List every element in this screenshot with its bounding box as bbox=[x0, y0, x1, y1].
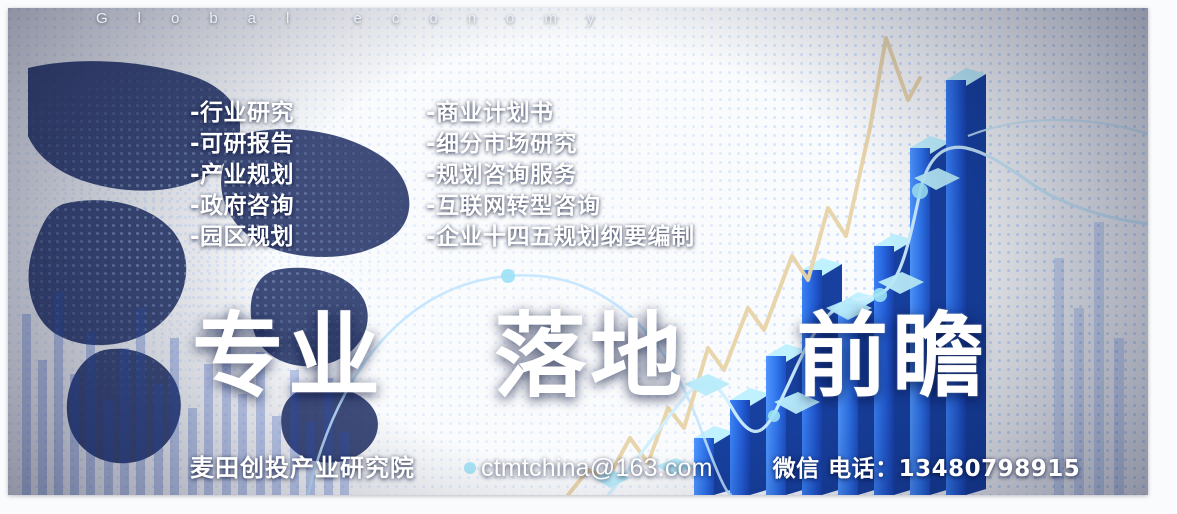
service-item: -商业计划书 bbox=[426, 98, 695, 129]
service-list-left: -行业研究 -可研报告 -产业规划 -政府咨询 -园区规划 bbox=[190, 98, 294, 253]
service-item: -产业规划 bbox=[190, 160, 294, 191]
service-item: -互联网转型咨询 bbox=[426, 191, 695, 222]
eyebrow-text: Global economy bbox=[96, 10, 1096, 27]
service-list-right: -商业计划书 -细分市场研究 -规划咨询服务 -互联网转型咨询 -企业十四五规划… bbox=[426, 98, 695, 253]
hero-headline: 专业 落地 前瞻 bbox=[192, 311, 988, 403]
service-item: -政府咨询 bbox=[190, 191, 294, 222]
service-item: -企业十四五规划纲要编制 bbox=[426, 222, 695, 253]
headline-part-1: 专业 bbox=[192, 303, 384, 410]
service-item: -规划咨询服务 bbox=[426, 160, 695, 191]
company-name: 麦田创投产业研究院 bbox=[190, 448, 415, 483]
headline-part-2: 落地 bbox=[494, 303, 686, 410]
banner-root: Global economy -行业研究 -可研报告 -产业规划 -政府咨询 -… bbox=[0, 0, 1177, 514]
email-address[interactable]: ctmtchina@163.com bbox=[481, 454, 713, 483]
arc-curve-right bbox=[968, 120, 1148, 136]
footer-contact-row: 麦田创投产业研究院 ctmtchina@163.com 微信 电话：134807… bbox=[190, 448, 1080, 483]
service-item: -细分市场研究 bbox=[426, 129, 695, 160]
service-item: -园区规划 bbox=[190, 222, 294, 253]
service-item: -行业研究 bbox=[190, 98, 294, 129]
promo-banner: Global economy -行业研究 -可研报告 -产业规划 -政府咨询 -… bbox=[8, 8, 1148, 495]
phone-contact: 微信 电话：13480798915 bbox=[773, 449, 1081, 483]
headline-part-3: 前瞻 bbox=[796, 303, 988, 410]
service-item: -可研报告 bbox=[190, 129, 294, 160]
